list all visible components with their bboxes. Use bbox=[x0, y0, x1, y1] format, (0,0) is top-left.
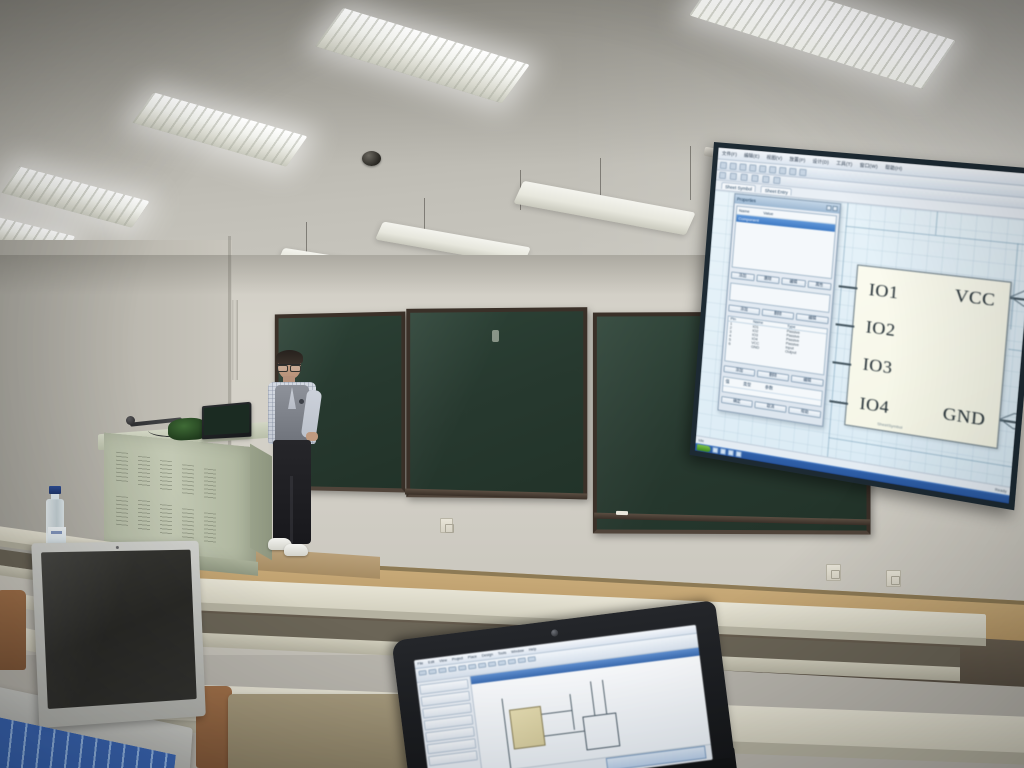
lectern-laptop-screen bbox=[204, 404, 250, 435]
field-type: 类型 bbox=[743, 381, 751, 388]
presenter-shoe bbox=[284, 544, 308, 556]
menu-item-place[interactable]: Place bbox=[468, 654, 477, 659]
foreground-laptop: File Edit View Project Place Design Tool… bbox=[392, 620, 732, 768]
toolbar-button[interactable] bbox=[769, 165, 777, 173]
add-button[interactable]: 添加 bbox=[723, 365, 755, 377]
toolbar-button[interactable] bbox=[729, 162, 736, 170]
lectern-laptop bbox=[202, 402, 251, 440]
toolbar-button[interactable] bbox=[527, 656, 536, 662]
schematic-wire bbox=[569, 694, 575, 730]
suspension-wire bbox=[690, 146, 691, 200]
properties-dialog[interactable]: Properties Name Value Component 添加 bbox=[717, 193, 841, 427]
blackboard-center bbox=[406, 307, 587, 499]
symbol-sublabel: SheetSymbol bbox=[877, 421, 903, 430]
pin-label-io1: IO1 bbox=[868, 279, 899, 303]
delete-button[interactable]: 删除 bbox=[756, 274, 780, 284]
delete-button[interactable]: 删除 bbox=[762, 309, 795, 320]
projection-screen: 文件(F) 编辑(E) 视图(V) 放置(P) 设计(D) 工具(T) 窗口(W… bbox=[690, 142, 1024, 510]
help-button[interactable]: 帮助 bbox=[788, 406, 821, 418]
webcam-icon bbox=[551, 629, 559, 637]
menu-item-tools[interactable]: 工具(T) bbox=[836, 160, 853, 168]
toolbar-button[interactable] bbox=[740, 174, 747, 182]
vent-grille bbox=[116, 496, 128, 527]
delete-button[interactable]: 删除 bbox=[757, 370, 790, 382]
eyeglasses-icon bbox=[277, 364, 301, 369]
vent-grille bbox=[160, 460, 172, 491]
bottle-label bbox=[48, 527, 66, 543]
taskbar-icon[interactable] bbox=[720, 448, 726, 455]
pin-label-vcc: VCC bbox=[954, 285, 996, 311]
menu-item-file[interactable]: 文件(F) bbox=[722, 150, 738, 157]
toolbar-button[interactable] bbox=[719, 172, 726, 180]
chalk-piece bbox=[616, 511, 628, 515]
menu-item-project[interactable]: Project bbox=[452, 656, 464, 661]
menu-item-view[interactable]: 视图(V) bbox=[766, 154, 782, 161]
toolbar-button[interactable] bbox=[762, 176, 770, 184]
left-laptop-lid bbox=[31, 541, 206, 728]
wall-conduit bbox=[232, 300, 238, 380]
chalk-smudge bbox=[492, 330, 499, 342]
dialog-title-text: Properties bbox=[737, 196, 756, 203]
left-laptop-screen bbox=[41, 550, 197, 709]
toolbar-button[interactable] bbox=[518, 657, 527, 663]
edit-button[interactable]: 编辑 bbox=[796, 313, 829, 324]
vent-grille bbox=[204, 468, 216, 499]
toolbar-button[interactable] bbox=[478, 662, 487, 668]
presenter bbox=[262, 352, 322, 570]
dialog-window-buttons bbox=[826, 205, 838, 211]
toolbar-button[interactable] bbox=[759, 165, 767, 173]
add-button[interactable]: 添加 bbox=[728, 304, 760, 315]
vent-grille bbox=[182, 464, 194, 495]
menu-item-tools[interactable]: Tools bbox=[498, 651, 507, 656]
edit-button[interactable]: 编辑 bbox=[791, 375, 824, 387]
schematic-wire bbox=[542, 710, 572, 715]
schematic-wire bbox=[590, 681, 596, 715]
dialog-tree-group: Name Value Component bbox=[732, 205, 838, 279]
toolbar-button[interactable] bbox=[508, 659, 517, 665]
toolbar-button[interactable] bbox=[418, 670, 427, 676]
col-name: Name bbox=[739, 208, 750, 214]
taskbar-icon[interactable] bbox=[712, 447, 718, 454]
vent-grille bbox=[160, 504, 172, 535]
toolbar-button[interactable] bbox=[428, 669, 437, 675]
menu-item-edit[interactable]: 编辑(E) bbox=[744, 152, 760, 159]
menu-item-design[interactable]: Design bbox=[482, 652, 494, 657]
bottle-cap bbox=[49, 486, 61, 494]
start-button[interactable] bbox=[697, 444, 711, 452]
edit-button[interactable]: 编辑 bbox=[781, 277, 805, 287]
vest-logo bbox=[299, 399, 304, 404]
microphone-icon bbox=[126, 416, 135, 425]
toolbar-button[interactable] bbox=[739, 163, 746, 171]
pin-label-io3: IO3 bbox=[862, 354, 893, 379]
menu-item-window[interactable]: 窗口(W) bbox=[859, 162, 877, 170]
toolbar-button[interactable] bbox=[458, 665, 467, 671]
toolbar-button[interactable] bbox=[799, 168, 807, 176]
water-bottle bbox=[44, 486, 66, 548]
chair-backrest bbox=[228, 694, 418, 768]
pin-label-io2: IO2 bbox=[865, 317, 896, 342]
schematic-component[interactable] bbox=[509, 706, 546, 750]
vent-grille bbox=[182, 508, 194, 539]
taskbar-icon[interactable] bbox=[735, 451, 741, 458]
status-left-text: Idle bbox=[698, 438, 704, 443]
pin-label-io4: IO4 bbox=[859, 393, 890, 418]
minimize-icon[interactable] bbox=[826, 205, 832, 211]
menu-item-window[interactable]: Window bbox=[511, 649, 524, 655]
field-value: 值 bbox=[725, 379, 729, 386]
close-icon[interactable] bbox=[832, 206, 838, 212]
menu-item-edit[interactable]: Edit bbox=[428, 660, 435, 665]
toolbar-button[interactable] bbox=[773, 177, 781, 185]
menu-item-view[interactable]: View bbox=[439, 658, 447, 663]
toolbar-button[interactable] bbox=[448, 666, 457, 672]
toolbar-button[interactable] bbox=[789, 167, 797, 175]
tab-sheet-entry[interactable]: Sheet Entry bbox=[761, 186, 793, 196]
cancel-button[interactable]: 取消 bbox=[754, 401, 786, 413]
menu-item-file[interactable]: File bbox=[417, 661, 423, 666]
menu-item-help[interactable]: 帮助(H) bbox=[885, 164, 903, 172]
wall-outlet bbox=[440, 518, 453, 533]
vent-grille bbox=[138, 500, 150, 531]
presenter-hair bbox=[276, 350, 303, 365]
classroom-photo: 文件(F) 编辑(E) 视图(V) 放置(P) 设计(D) 工具(T) 窗口(W… bbox=[0, 0, 1024, 768]
projected-application: 文件(F) 编辑(E) 视图(V) 放置(P) 设计(D) 工具(T) 窗口(W… bbox=[695, 147, 1024, 504]
pin-label-gnd: GND bbox=[942, 403, 986, 430]
vent-grille bbox=[138, 456, 150, 487]
toolbar-button[interactable] bbox=[488, 661, 497, 667]
left-laptop bbox=[0, 542, 212, 768]
toolbar-button[interactable] bbox=[498, 660, 507, 666]
field-param: 参数 bbox=[765, 384, 773, 391]
menu-item-place[interactable]: 放置(P) bbox=[789, 156, 805, 163]
toolbar-button[interactable] bbox=[749, 164, 756, 172]
ok-button[interactable]: 确定 bbox=[721, 396, 753, 408]
wall-outlet bbox=[826, 564, 841, 581]
schematic-symbol[interactable] bbox=[582, 712, 620, 750]
toolbar-button[interactable] bbox=[751, 175, 758, 183]
menu-item-help[interactable]: Help bbox=[529, 647, 537, 652]
toolbar-button[interactable] bbox=[730, 173, 737, 181]
menu-item-design[interactable]: 设计(D) bbox=[812, 158, 829, 166]
presenter-trousers bbox=[273, 440, 311, 544]
foreground-laptop-screen[interactable]: File Edit View Project Place Design Tool… bbox=[414, 625, 713, 768]
smoke-detector-icon bbox=[362, 151, 381, 166]
vent-grille bbox=[116, 452, 128, 483]
port-triangle-icon bbox=[1007, 286, 1024, 312]
foreground-laptop-lid: File Edit View Project Place Design Tool… bbox=[391, 600, 734, 768]
wall-outlet bbox=[886, 570, 901, 587]
col-value: Value bbox=[763, 210, 773, 216]
schematic-wire bbox=[602, 680, 608, 714]
props-button[interactable]: 属性 bbox=[807, 280, 832, 290]
toolbar-button[interactable] bbox=[468, 664, 477, 670]
sheet-symbol-block[interactable]: IO1 IO2 IO3 IO4 VCC GND SheetSymbol bbox=[844, 264, 1012, 449]
toolbar-button[interactable] bbox=[720, 161, 727, 169]
toolbar-button[interactable] bbox=[779, 166, 787, 174]
toolbar-button[interactable] bbox=[438, 667, 447, 673]
screen-glare bbox=[41, 550, 197, 709]
webcam-icon bbox=[116, 546, 119, 549]
schematic-wire bbox=[544, 731, 584, 737]
vent-grille bbox=[204, 512, 216, 543]
add-button[interactable]: 添加 bbox=[731, 271, 755, 281]
bottle-body bbox=[46, 499, 64, 548]
taskbar-icon[interactable] bbox=[728, 449, 734, 456]
